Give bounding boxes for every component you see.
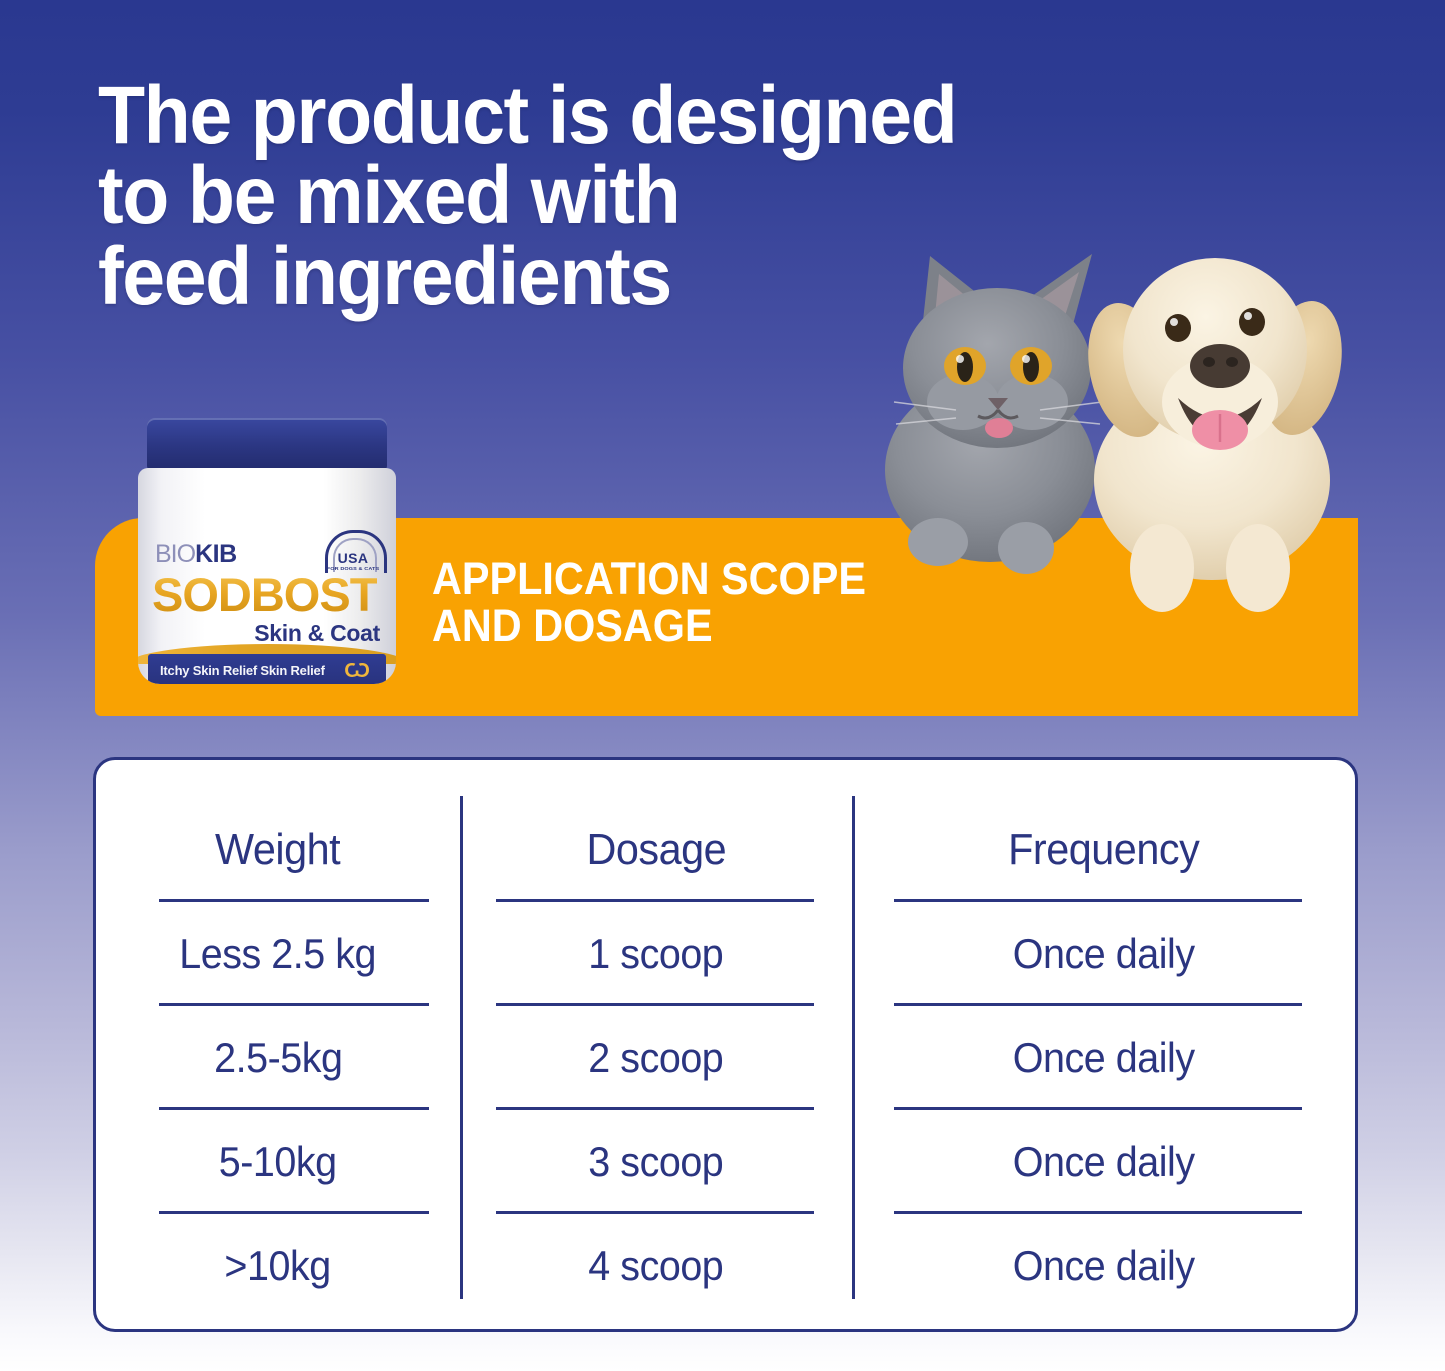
product-name: SODBOST xyxy=(152,571,377,618)
table-row: 2.5-5kg 2 scoop Once daily xyxy=(96,1006,1355,1110)
cell-frequency: Once daily xyxy=(852,902,1355,1006)
headline-line-1: The product is designed xyxy=(98,76,1207,156)
brand-suffix: KIB xyxy=(195,540,237,568)
banner-title-line-2: AND DOSAGE xyxy=(432,603,1131,650)
header-cell-frequency: Frequency xyxy=(852,798,1355,902)
cell-weight: 5-10kg xyxy=(96,1110,460,1214)
table-row: >10kg 4 scoop Once daily xyxy=(96,1214,1355,1318)
banner-title: APPLICATION SCOPE AND DOSAGE xyxy=(432,556,1131,650)
cat-figure xyxy=(885,254,1102,574)
table-header-row: Weight Dosage Frequency xyxy=(96,798,1355,902)
cell-weight: Less 2.5 kg xyxy=(96,902,460,1006)
dosage-table: Weight Dosage Frequency Less 2.5 kg xyxy=(93,757,1358,1332)
cell-weight: 2.5-5kg xyxy=(96,1006,460,1110)
badge-label: USA xyxy=(322,550,384,566)
cell-dosage: 1 scoop xyxy=(460,902,852,1006)
brand-logo: BIOKIB xyxy=(155,542,237,567)
table-row: Less 2.5 kg 1 scoop Once daily xyxy=(96,902,1355,1006)
table-row: 5-10kg 3 scoop Once daily xyxy=(96,1110,1355,1214)
cell-frequency: Once daily xyxy=(852,1110,1355,1214)
cell-dosage: 3 scoop xyxy=(460,1110,852,1214)
header-cell-weight: Weight xyxy=(96,798,460,902)
product-jar: BIOKIB USA FOR DOGS & CATS SODBOST Skin … xyxy=(138,418,396,684)
product-infographic: The product is designed to be mixed with… xyxy=(0,0,1445,1371)
relief-band: Itchy Skin Relief Skin Relief Ѡ xyxy=(148,654,386,684)
cell-dosage: 2 scoop xyxy=(460,1006,852,1110)
banner-title-line-1: APPLICATION SCOPE xyxy=(432,556,1131,603)
paw-icon: Ѡ xyxy=(342,658,372,684)
product-subtitle: Skin & Coat xyxy=(254,620,380,647)
jar-lid xyxy=(147,418,387,470)
header-cell-dosage: Dosage xyxy=(460,798,852,902)
jar-body: BIOKIB USA FOR DOGS & CATS SODBOST Skin … xyxy=(138,468,396,684)
cell-frequency: Once daily xyxy=(852,1214,1355,1318)
cell-frequency: Once daily xyxy=(852,1006,1355,1110)
cell-weight: >10kg xyxy=(96,1214,460,1318)
brand-prefix: BIO xyxy=(155,540,195,568)
relief-band-text: Itchy Skin Relief Skin Relief xyxy=(160,663,325,678)
cell-dosage: 4 scoop xyxy=(460,1214,852,1318)
